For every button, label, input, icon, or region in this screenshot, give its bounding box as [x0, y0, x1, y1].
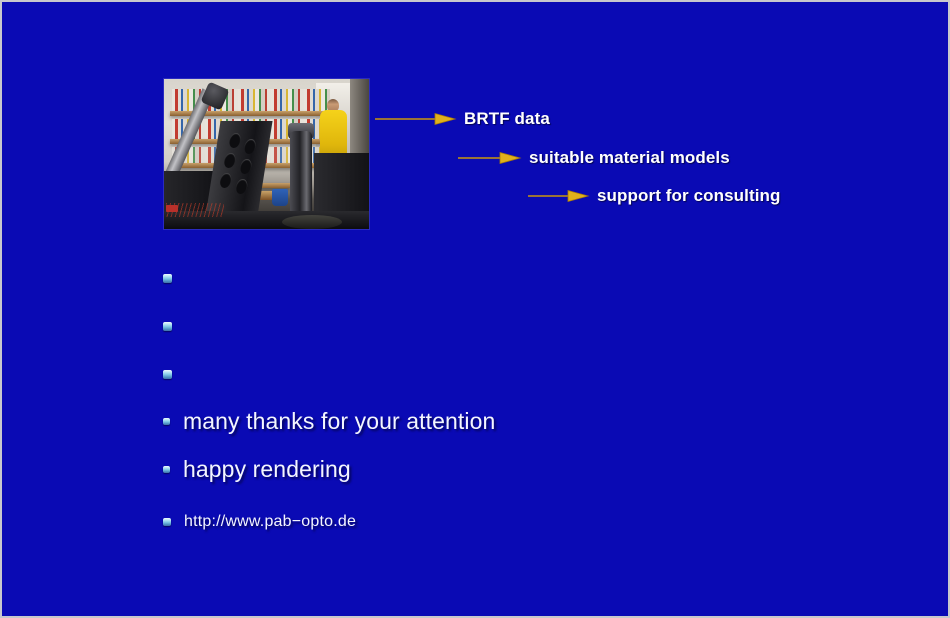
bullet-label-happy-rendering: happy rendering [183, 456, 351, 483]
arrow-right-icon [528, 189, 590, 203]
arrow-row-brtf-data: BRTF data [375, 109, 550, 129]
arrow-right-icon [375, 112, 457, 126]
bullet-marker-icon [163, 518, 171, 526]
photo-bucket [272, 189, 288, 206]
presentation-slide: BRTF data suitable material models suppo… [0, 0, 950, 618]
bullet-marker-icon [163, 466, 170, 473]
bullet-item-website-url[interactable]: http://www.pab−opto.de [163, 513, 356, 531]
bullet-label-thanks: many thanks for your attention [183, 408, 495, 435]
photo-panel-hole [235, 179, 248, 194]
bullet-item-happy-rendering: happy rendering [163, 456, 351, 483]
photo-red-box [166, 205, 178, 212]
bullet-item-thanks: many thanks for your attention [163, 408, 495, 435]
arrow-label-brtf-data: BRTF data [464, 109, 550, 129]
photo-panel-hole [228, 133, 241, 148]
bullet-marker-icon [163, 370, 172, 379]
bullet-marker-icon [163, 274, 172, 283]
photo-panel-hole [239, 159, 252, 174]
photo-panel-hole [223, 153, 236, 168]
gonioreflectometer-lab-photo [163, 78, 370, 230]
bullet-item-empty-2 [163, 322, 185, 331]
arrow-label-material-models: suitable material models [529, 148, 730, 168]
arrow-row-support-consulting: support for consulting [528, 186, 781, 206]
bullet-item-empty-1 [163, 274, 185, 283]
bullet-marker-icon [163, 418, 170, 425]
bullet-marker-icon [163, 322, 172, 331]
photo-turntable [282, 215, 342, 229]
photo-detector [290, 131, 312, 215]
arrow-label-support-consulting: support for consulting [597, 186, 781, 206]
website-url-link[interactable]: http://www.pab−opto.de [184, 513, 356, 531]
bullet-item-empty-3 [163, 370, 185, 379]
arrow-right-icon [458, 151, 522, 165]
photo-panel-right [314, 153, 370, 215]
arrow-row-material-models: suitable material models [458, 148, 730, 168]
photo-panel-hole [243, 139, 256, 154]
photo-panel-hole [219, 173, 232, 188]
